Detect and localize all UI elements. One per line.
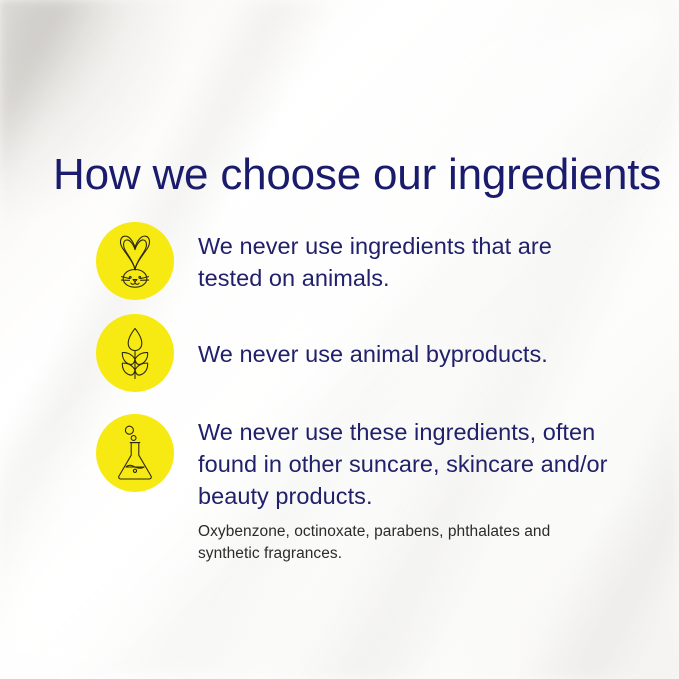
- list-item-body: We never use animal byproducts.: [198, 316, 548, 370]
- list-item-note: Oxybenzone, octinoxate, parabens, phthal…: [198, 521, 558, 565]
- content-area: How we choose our ingredients: [0, 0, 679, 679]
- list-item: We never use these ingredients, often fo…: [96, 414, 636, 565]
- page-title: How we choose our ingredients: [53, 151, 661, 199]
- list-item-text: We never use these ingredients, often fo…: [174, 414, 608, 565]
- list-item: We never use ingredients that are tested…: [96, 222, 636, 300]
- icon-badge: [96, 314, 174, 392]
- erlenmeyer-flask-icon: [114, 425, 156, 481]
- icon-badge: [96, 414, 174, 492]
- plant-sprig-leaf-icon: [114, 326, 156, 380]
- bunny-heart-ears-icon: [112, 233, 158, 289]
- list-item-text: We never use ingredients that are tested…: [174, 222, 598, 294]
- list-item-body: We never use ingredients that are tested…: [198, 224, 598, 294]
- ingredient-principles-panel: How we choose our ingredients: [0, 0, 679, 679]
- list-item-body: We never use these ingredients, often fo…: [198, 416, 608, 512]
- principles-list: We never use ingredients that are tested…: [96, 222, 636, 565]
- list-item: We never use animal byproducts.: [96, 314, 636, 392]
- icon-badge: [96, 222, 174, 300]
- list-item-text: We never use animal byproducts.: [174, 314, 548, 370]
